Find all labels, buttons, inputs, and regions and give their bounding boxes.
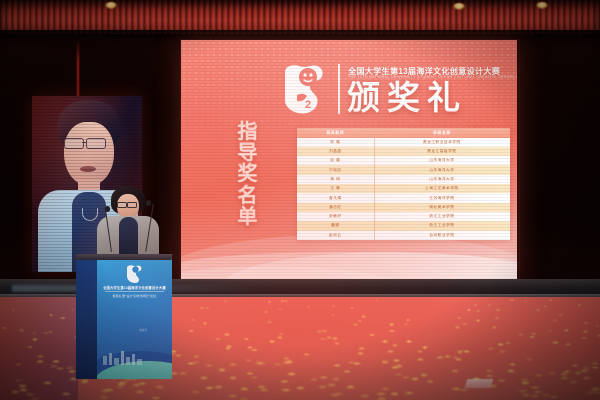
podium-divider [105, 291, 164, 292]
screen-frame [180, 39, 520, 285]
spotlight-icon [105, 2, 117, 9]
city-skyline-icon [101, 349, 145, 365]
microphone-icon [146, 200, 151, 206]
podium-line-2: 颁奖礼暨"设计与时代同行"论坛 [99, 293, 170, 298]
podium-top-surface [75, 254, 172, 260]
podium: 全国大学生第13届海洋文化创意设计大赛 颁奖礼暨"设计与时代同行"论坛 主办方 [76, 258, 172, 379]
glasses-icon [127, 202, 137, 208]
spotlight-icon [453, 3, 465, 10]
ocean-wave-logo-icon [124, 264, 144, 284]
speaker-person [97, 186, 159, 262]
podium-side-panel [76, 258, 98, 379]
glasses-icon [117, 202, 127, 208]
spotlight-icon [536, 2, 548, 9]
podium-front-panel: 全国大学生第13届海洋文化创意设计大赛 颁奖礼暨"设计与时代同行"论坛 主办方 [97, 258, 172, 379]
podium-small-mark: 主办方 [139, 328, 147, 332]
microphone-icon [105, 206, 110, 212]
wall-light-strip [77, 40, 79, 102]
podium-line-1: 全国大学生第13届海洋文化创意设计大赛 [99, 285, 170, 290]
stage-photo-scene: 2 全国大学生第13届海洋文化创意设计大赛 THE 13TH NATIONAL … [0, 0, 600, 400]
ceiling-curtain [0, 0, 600, 34]
